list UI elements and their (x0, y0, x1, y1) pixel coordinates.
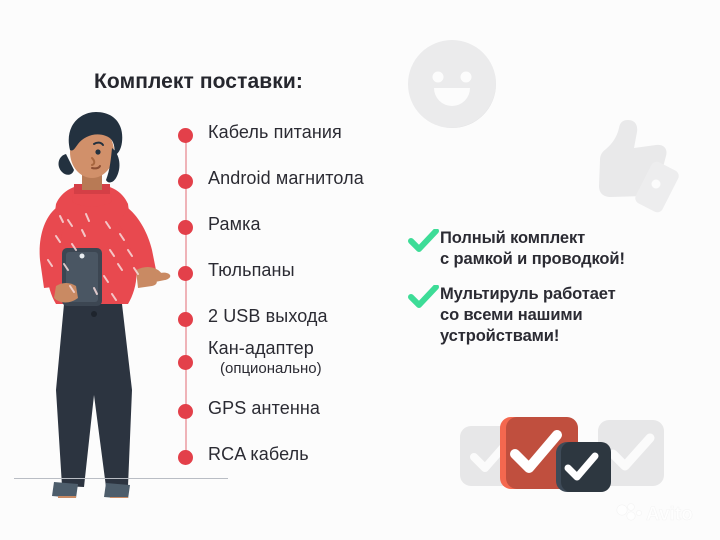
benefit-text: Полный комплект с рамкой и проводкой! (440, 228, 625, 270)
ground-line (14, 478, 228, 479)
promo-image-canvas: Комплект поставки: Кабель питания Androi… (0, 0, 720, 540)
bullet-dot (178, 220, 193, 235)
avito-wordmark: Avito (646, 504, 693, 525)
list-item-label: Тюльпаны (208, 260, 295, 281)
bullet-dot (178, 174, 193, 189)
woman-illustration (8, 108, 176, 498)
green-check-icon (408, 229, 440, 255)
list-item-sublabel: (опционально) (220, 360, 322, 377)
benefit-text: Мультируль работает со всеми нашими устр… (440, 284, 616, 347)
avito-watermark: Avito (614, 500, 706, 526)
thumbs-up-icon (572, 108, 684, 220)
page-title: Комплект поставки: (94, 70, 303, 94)
list-item-label: Android магнитола (208, 168, 364, 189)
benefits-list: Полный комплект с рамкой и проводкой! Му… (408, 228, 688, 348)
bullet-dot (178, 312, 193, 327)
bullet-dot (178, 266, 193, 281)
bullet-dot (178, 404, 193, 419)
list-item-label: Рамка (208, 214, 261, 235)
list-item-label: RCA кабель (208, 444, 309, 465)
list-item-label: Кабель питания (208, 122, 342, 143)
smiley-face-icon (400, 32, 504, 136)
list-item-label: Кан-адаптер (208, 338, 314, 359)
checkbox-cards-group (460, 414, 670, 500)
supply-list: Кабель питания Android магнитола Рамка Т… (178, 128, 428, 468)
check-icon (556, 442, 606, 492)
benefit-item: Полный комплект с рамкой и проводкой! (408, 228, 688, 270)
bullet-dot (178, 355, 193, 370)
benefit-item: Мультируль работает со всеми нашими устр… (408, 284, 688, 347)
bullet-dot (178, 450, 193, 465)
list-item-label: GPS антенна (208, 398, 320, 419)
bullet-dot (178, 128, 193, 143)
green-check-icon (408, 285, 440, 311)
checkbox-card-dark (556, 442, 606, 492)
list-item-label: 2 USB выхода (208, 306, 328, 327)
